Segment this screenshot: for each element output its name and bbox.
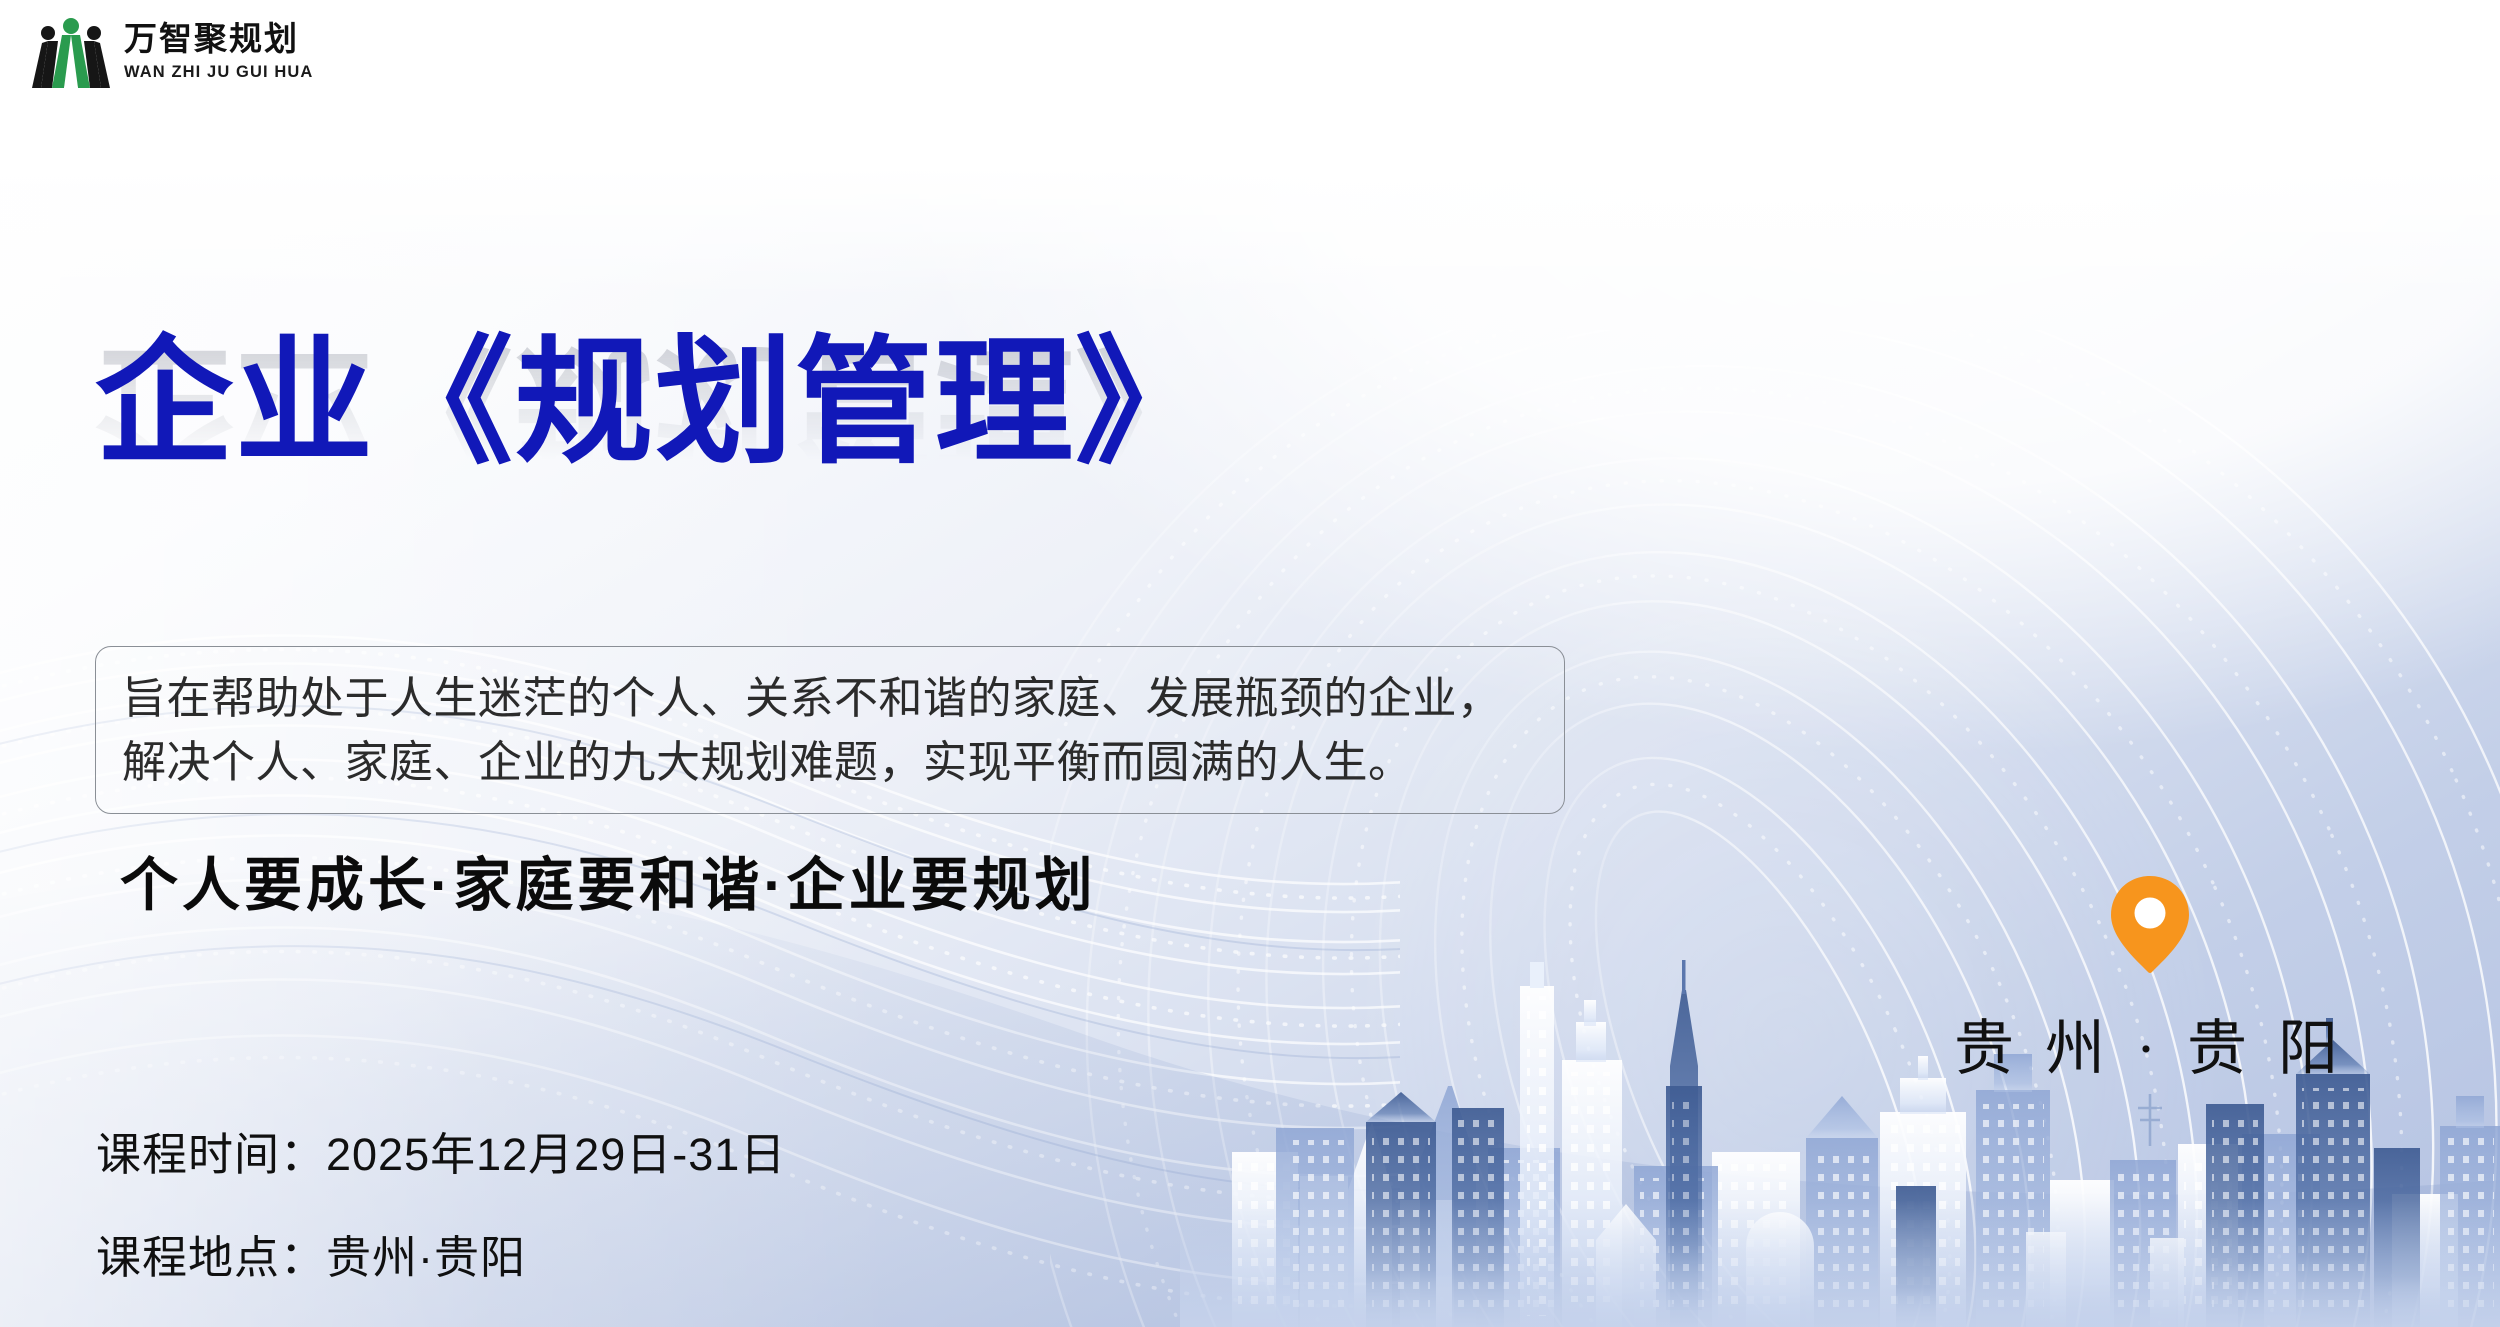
description-box: 旨在帮助处于人生迷茫的个人、关系不和谐的家庭、发展瓶颈的企业， 解决个人、家庭、… xyxy=(95,646,1565,814)
map-pin-icon xyxy=(2102,872,2198,976)
hero-title-block: 企业《规划管理》 企业《规划管理》 xyxy=(95,330,1695,650)
brand-name-cn: 万智聚规划 xyxy=(124,24,313,57)
description-line-1: 旨在帮助处于人生迷茫的个人、关系不和谐的家庭、发展瓶颈的企业， xyxy=(122,667,1538,731)
course-time: 课程时间：2025年12月29日-31日 xyxy=(96,1118,786,1183)
location-badge: 贵 州 · 贵 阳 xyxy=(1960,872,2340,1087)
brand-name-pinyin: WAN ZHI JU GUI HUA xyxy=(124,64,313,81)
poster-canvas: 万智聚规划 WAN ZHI JU GUI HUA 企业《规划管理》 企业《规划管… xyxy=(0,0,2500,1327)
description-line-2: 解决个人、家庭、企业的九大规划难题，实现平衡而圆满的人生。 xyxy=(122,731,1538,795)
three-people-logo-icon xyxy=(32,16,110,88)
course-info-block: 课程时间：2025年12月29日-31日 课程地点：贵州·贵阳 xyxy=(96,1118,786,1286)
slogan-text: 个人要成长·家庭要和谐·企业要规划 xyxy=(120,838,1097,922)
brand-logo[interactable]: 万智聚规划 WAN ZHI JU GUI HUA xyxy=(32,16,313,88)
course-place: 课程地点：贵州·贵阳 xyxy=(96,1221,786,1286)
brand-logo-text: 万智聚规划 WAN ZHI JU GUI HUA xyxy=(124,24,313,81)
location-name: 贵 州 · 贵 阳 xyxy=(1954,1000,2346,1087)
page-title: 企业《规划管理》 xyxy=(95,330,1695,476)
